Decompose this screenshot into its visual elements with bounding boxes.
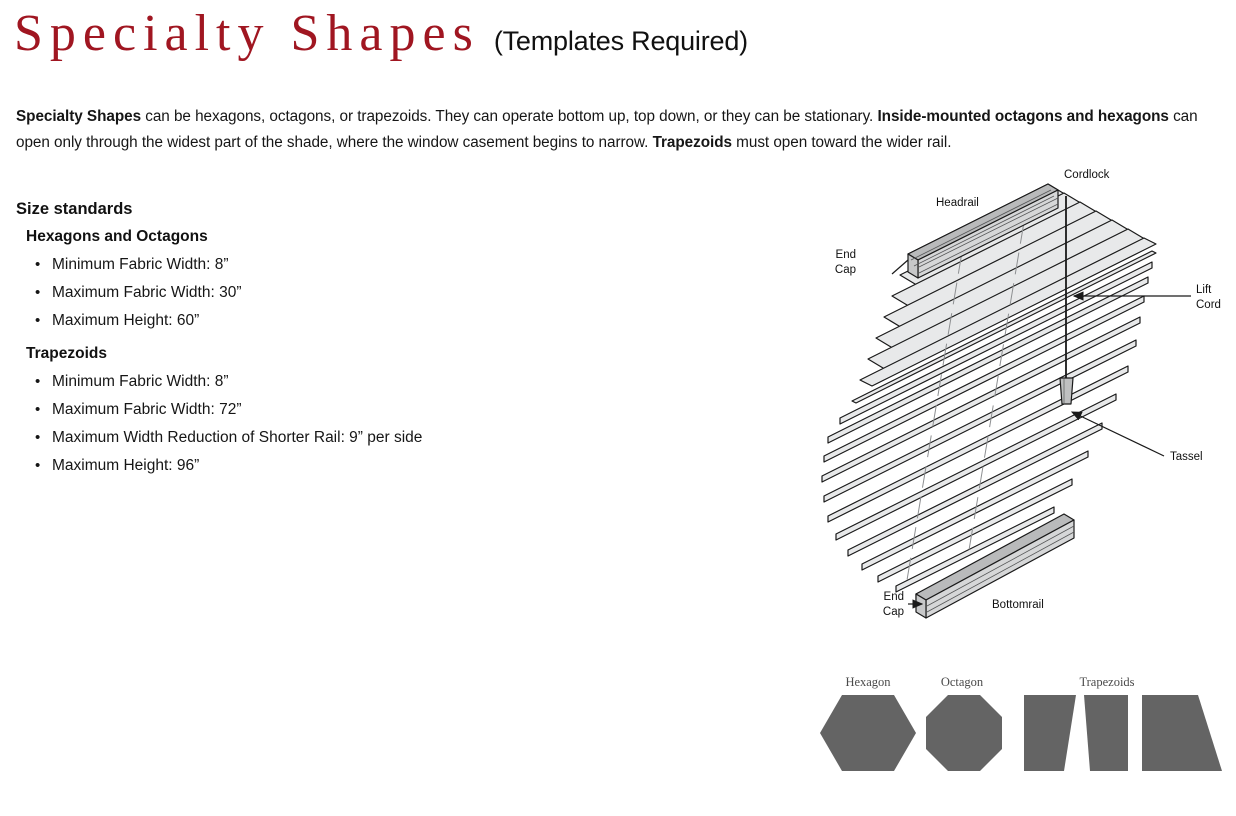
- list-item-label: Minimum Fabric Width: 8”: [52, 256, 229, 273]
- shape-swatches: Hexagon Octagon Trapezoids: [812, 670, 1236, 816]
- label-lift-cord-line1: Lift: [1196, 284, 1212, 296]
- shape-octagon: [926, 695, 1002, 771]
- shape-trapezoid-2: [1084, 695, 1128, 771]
- list-item-label: Minimum Fabric Width: 8”: [52, 373, 229, 390]
- page-title-note: (Templates Required): [494, 26, 748, 57]
- subheading-trapezoids: Trapezoids: [26, 345, 636, 363]
- shade-diagram-svg: Cordlock Headrail End Cap Lift Cord Tass…: [796, 156, 1236, 656]
- intro-bold-specialty-shapes: Specialty Shapes: [16, 108, 141, 125]
- list-item-label: Maximum Height: 60”: [52, 312, 199, 329]
- subheading-hexagons-and-octagons: Hexagons and Octagons: [26, 228, 636, 246]
- shade-fabric-body: [822, 184, 1156, 600]
- spec-list-trapezoids: •Minimum Fabric Width: 8” •Maximum Fabri…: [16, 368, 636, 480]
- label-cordlock: Cordlock: [1064, 169, 1110, 181]
- page-header: Specialty Shapes (Templates Required): [14, 8, 748, 60]
- list-item: •Maximum Fabric Width: 72”: [16, 396, 636, 424]
- list-item: •Minimum Fabric Width: 8”: [16, 368, 636, 396]
- page-title: Specialty Shapes: [14, 8, 480, 60]
- intro-bold-trapezoids: Trapezoids: [653, 134, 732, 151]
- list-item-label: Maximum Height: 96”: [52, 457, 199, 474]
- label-end-cap-top-line2: Cap: [835, 264, 856, 276]
- list-item: •Maximum Height: 60”: [16, 307, 636, 335]
- bullet-icon: •: [35, 396, 40, 424]
- bullet-icon: •: [35, 424, 40, 452]
- shade-diagram: Cordlock Headrail End Cap Lift Cord Tass…: [796, 156, 1236, 656]
- bullet-icon: •: [35, 307, 40, 335]
- intro-paragraph: Specialty Shapes can be hexagons, octago…: [16, 104, 1228, 156]
- bullet-icon: •: [35, 452, 40, 480]
- shape-trapezoid-3: [1142, 695, 1222, 771]
- list-item: •Minimum Fabric Width: 8”: [16, 251, 636, 279]
- label-end-cap-bottom-line2: Cap: [883, 606, 904, 618]
- bullet-icon: •: [35, 368, 40, 396]
- shape-label-hexagon: Hexagon: [845, 675, 891, 689]
- bullet-icon: •: [35, 279, 40, 307]
- label-end-cap-top-line1: End: [836, 249, 856, 261]
- bullet-icon: •: [35, 251, 40, 279]
- tassel-part: [1060, 378, 1073, 404]
- label-end-cap-bottom-line1: End: [884, 591, 904, 603]
- label-tassel: Tassel: [1170, 451, 1203, 463]
- intro-text-1: can be hexagons, octagons, or trapezoids…: [141, 108, 877, 125]
- shape-trapezoid-1: [1024, 695, 1076, 771]
- label-bottomrail: Bottomrail: [992, 599, 1044, 611]
- list-item-label: Maximum Fabric Width: 72”: [52, 401, 241, 418]
- spec-list-hexagons-octagons: •Minimum Fabric Width: 8” •Maximum Fabri…: [16, 251, 636, 335]
- list-item-label: Maximum Width Reduction of Shorter Rail:…: [52, 429, 422, 446]
- standards-group-hexagons-octagons: Hexagons and Octagons •Minimum Fabric Wi…: [16, 228, 636, 335]
- size-standards-heading: Size standards: [16, 200, 636, 219]
- list-item: •Maximum Fabric Width: 30”: [16, 279, 636, 307]
- shape-label-trapezoids: Trapezoids: [1079, 675, 1134, 689]
- list-item: •Maximum Height: 96”: [16, 452, 636, 480]
- shape-swatches-svg: Hexagon Octagon Trapezoids: [812, 670, 1236, 816]
- intro-bold-inside-mounted: Inside-mounted octagons and hexagons: [877, 108, 1168, 125]
- standards-group-trapezoids: Trapezoids •Minimum Fabric Width: 8” •Ma…: [16, 345, 636, 480]
- list-item: •Maximum Width Reduction of Shorter Rail…: [16, 424, 636, 452]
- shape-hexagon: [820, 695, 916, 771]
- shape-label-octagon: Octagon: [941, 675, 984, 689]
- list-item-label: Maximum Fabric Width: 30”: [52, 284, 241, 301]
- size-standards-section: Size standards Hexagons and Octagons •Mi…: [16, 200, 636, 490]
- label-headrail: Headrail: [936, 197, 979, 209]
- label-lift-cord-line2: Cord: [1196, 299, 1221, 311]
- intro-text-3: must open toward the wider rail.: [732, 134, 951, 151]
